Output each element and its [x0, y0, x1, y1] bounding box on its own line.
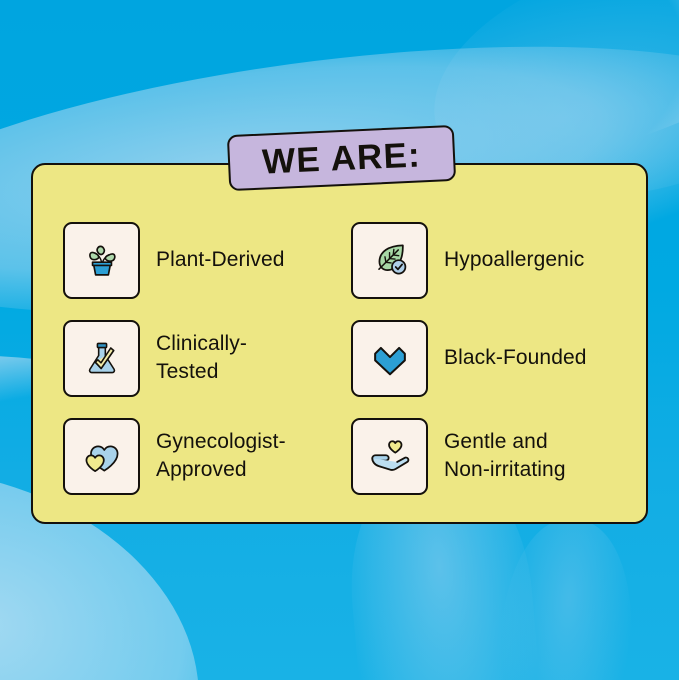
hand-heart-icon: [367, 433, 413, 479]
icon-tile: [351, 222, 428, 299]
feature-black-founded: Black-Founded: [351, 309, 639, 407]
feature-label-line1: Gynecologist-: [156, 430, 286, 453]
angular-heart-icon: [367, 335, 413, 381]
potted-plant-icon: [81, 239, 123, 281]
icon-tile: [63, 418, 140, 495]
icon-tile: [63, 320, 140, 397]
feature-label: Plant-Derived: [156, 246, 285, 274]
feature-plant-derived: Plant-Derived: [63, 211, 351, 309]
feature-clinically-tested: Clinically- Tested: [63, 309, 351, 407]
promo-graphic: WE ARE:: [0, 0, 679, 680]
feature-label-line1: Plant-Derived: [156, 248, 285, 271]
feature-label: Gynecologist- Approved: [156, 428, 286, 483]
feature-label: Black-Founded: [444, 344, 587, 372]
flask-check-icon: [82, 338, 122, 378]
feature-label-line1: Black-Founded: [444, 346, 587, 369]
feature-label: Clinically- Tested: [156, 330, 247, 385]
feature-label: Gentle and Non-irritating: [444, 428, 566, 483]
banner-title: WE ARE:: [261, 137, 421, 179]
feature-label-line2: Tested: [156, 358, 247, 386]
feature-label-line2: Approved: [156, 456, 286, 484]
we-are-banner: WE ARE:: [227, 125, 456, 191]
feature-hypoallergenic: Hypoallergenic: [351, 211, 639, 309]
leaf-check-icon: [368, 238, 412, 282]
feature-gynecologist-approved: Gynecologist- Approved: [63, 407, 351, 505]
features-grid: Plant-Derived: [31, 163, 648, 524]
icon-tile: [63, 222, 140, 299]
feature-label-line2: Non-irritating: [444, 456, 566, 484]
feature-label-line1: Hypoallergenic: [444, 248, 584, 271]
feature-label-line1: Clinically-: [156, 332, 247, 355]
icon-tile: [351, 320, 428, 397]
feature-label-line1: Gentle and: [444, 430, 548, 453]
feature-gentle-non-irritating: Gentle and Non-irritating: [351, 407, 639, 505]
icon-tile: [351, 418, 428, 495]
two-hearts-icon: [80, 434, 124, 478]
feature-label: Hypoallergenic: [444, 246, 584, 274]
